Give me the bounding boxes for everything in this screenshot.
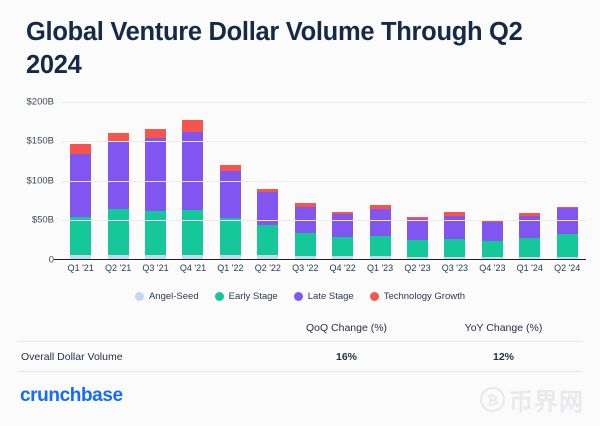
stacked-bar[interactable] xyxy=(407,217,428,259)
bar-column[interactable] xyxy=(474,100,511,259)
x-axis-label: Q1 '23 xyxy=(361,263,398,273)
bar-segment-angel xyxy=(220,255,241,259)
x-axis-labels: Q1 '21Q2 '21Q3 '21Q4 '21Q1 '22Q2 '22Q3 '… xyxy=(62,263,586,273)
bar-segment-early xyxy=(407,240,428,257)
x-axis-label: Q1 '22 xyxy=(212,263,249,273)
bar-column[interactable] xyxy=(99,100,136,259)
stacked-bar[interactable] xyxy=(257,189,278,259)
y-axis: 0$50B$100B$150B$200B xyxy=(0,100,62,260)
legend-label: Angel-Seed xyxy=(149,291,199,302)
x-axis-label: Q2 '24 xyxy=(548,263,585,273)
x-axis-label: Q2 '22 xyxy=(249,263,286,273)
stacked-bar[interactable] xyxy=(295,203,316,258)
legend-color-dot xyxy=(215,292,224,301)
bar-segment-angel xyxy=(70,255,91,258)
bar-segment-early xyxy=(182,210,203,255)
legend-label: Late Stage xyxy=(308,291,354,302)
bar-segment-late xyxy=(332,214,353,237)
bar-column[interactable] xyxy=(436,100,473,259)
bar-column[interactable] xyxy=(62,100,99,259)
footer: crunchbase ₿ 币界网 xyxy=(0,378,600,426)
bar-column[interactable] xyxy=(548,100,585,259)
bar-segment-early xyxy=(257,225,278,255)
y-axis-tick: 0 xyxy=(49,255,54,266)
y-axis-tick: $150B xyxy=(27,136,54,147)
table-row: Overall Dollar Volume 16% 12% xyxy=(18,342,582,372)
bar-segment-early xyxy=(108,209,129,255)
bar-column[interactable] xyxy=(287,100,324,259)
stacked-bar[interactable] xyxy=(557,207,578,259)
bar-segment-early xyxy=(145,211,166,255)
bar-segment-early xyxy=(332,237,353,256)
legend-label: Technology Growth xyxy=(384,291,465,302)
x-axis-label: Q1 '24 xyxy=(511,263,548,273)
table-cell-qoq: 16% xyxy=(268,351,425,363)
bar-column[interactable] xyxy=(212,100,249,259)
table-header-yoy: YoY Change (%) xyxy=(425,322,582,334)
stacked-bar[interactable] xyxy=(70,144,91,259)
bar-segment-angel xyxy=(482,257,503,259)
bar-segment-tech xyxy=(145,129,166,138)
stacked-bar[interactable] xyxy=(482,220,503,259)
table-header-row: QoQ Change (%) YoY Change (%) xyxy=(18,315,582,342)
stacked-bar[interactable] xyxy=(220,165,241,259)
bar-group xyxy=(62,100,586,259)
y-axis-tick: $100B xyxy=(27,175,54,186)
watermark: ₿ 币界网 xyxy=(480,382,584,417)
table-cell-yoy: 12% xyxy=(425,351,582,363)
table-row-label: Overall Dollar Volume xyxy=(18,351,268,363)
legend-color-dot xyxy=(370,292,379,301)
bar-column[interactable] xyxy=(137,100,174,259)
bar-column[interactable] xyxy=(249,100,286,259)
chart-legend: Angel-SeedEarly StageLate StageTechnolog… xyxy=(0,291,600,302)
gridline xyxy=(62,220,586,221)
bar-segment-late xyxy=(370,209,391,235)
bar-segment-angel xyxy=(145,255,166,259)
gridline xyxy=(62,141,586,142)
bar-segment-angel xyxy=(557,257,578,259)
summary-table: QoQ Change (%) YoY Change (%) Overall Do… xyxy=(18,315,582,372)
bar-segment-angel xyxy=(257,255,278,258)
legend-color-dot xyxy=(294,292,303,301)
bar-column[interactable] xyxy=(361,100,398,259)
bar-segment-early xyxy=(295,233,316,256)
crunchbase-logo: crunchbase xyxy=(20,385,123,407)
y-axis-tick: $200B xyxy=(27,96,54,107)
bar-segment-angel xyxy=(182,255,203,259)
y-axis-tick: $50B xyxy=(32,215,54,226)
x-axis-label: Q3 '22 xyxy=(287,263,324,273)
bar-column[interactable] xyxy=(174,100,211,259)
bar-segment-early xyxy=(557,234,578,256)
stacked-bar[interactable] xyxy=(332,212,353,259)
bar-segment-late xyxy=(70,154,91,217)
legend-item[interactable]: Late Stage xyxy=(294,291,354,302)
bar-column[interactable] xyxy=(511,100,548,259)
x-axis-label: Q4 '22 xyxy=(324,263,361,273)
plot-area xyxy=(62,100,586,260)
legend-color-dot xyxy=(135,292,144,301)
stacked-bar[interactable] xyxy=(444,212,465,258)
stacked-bar[interactable] xyxy=(145,129,166,259)
legend-item[interactable]: Technology Growth xyxy=(370,291,465,302)
bar-segment-early xyxy=(370,236,391,257)
x-axis-label: Q3 '21 xyxy=(137,263,174,273)
x-axis-line xyxy=(54,259,586,261)
table-header-qoq: QoQ Change (%) xyxy=(268,322,425,334)
coin-icon: ₿ xyxy=(480,387,505,412)
x-axis-label: Q3 '23 xyxy=(436,263,473,273)
stacked-bar[interactable] xyxy=(370,205,391,259)
watermark-label: 币界网 xyxy=(509,382,584,417)
bar-segment-angel xyxy=(519,257,540,259)
bar-segment-late xyxy=(407,219,428,240)
bar-segment-early xyxy=(519,238,540,256)
x-axis-label: Q4 '23 xyxy=(474,263,511,273)
bar-segment-early xyxy=(482,241,503,256)
chart-card: Global Venture Dollar Volume Through Q2 … xyxy=(0,0,600,426)
bar-segment-late xyxy=(108,142,129,209)
bar-segment-angel xyxy=(108,255,129,258)
legend-label: Early Stage xyxy=(229,291,278,302)
bar-segment-tech xyxy=(70,144,91,154)
x-axis-label: Q4 '21 xyxy=(174,263,211,273)
bar-column[interactable] xyxy=(399,100,436,259)
bar-segment-angel xyxy=(407,257,428,259)
x-axis-label: Q2 '23 xyxy=(399,263,436,273)
x-axis-label: Q2 '21 xyxy=(99,263,136,273)
bar-column[interactable] xyxy=(324,100,361,259)
bar-segment-early xyxy=(220,218,241,254)
bar-segment-early xyxy=(444,239,465,256)
legend-item[interactable]: Early Stage xyxy=(215,291,278,302)
gridline xyxy=(62,181,586,182)
bar-segment-angel xyxy=(370,256,391,258)
bar-segment-angel xyxy=(295,256,316,259)
bar-segment-angel xyxy=(444,257,465,259)
gridline xyxy=(62,102,586,103)
page-title: Global Venture Dollar Volume Through Q2 … xyxy=(26,16,566,81)
bar-segment-tech xyxy=(182,120,203,132)
bar-segment-late xyxy=(482,222,503,242)
bar-segment-late xyxy=(145,138,166,212)
chart-area: 0$50B$100B$150B$200B Q1 '21Q2 '21Q3 '21Q… xyxy=(0,100,600,285)
bar-segment-early xyxy=(70,217,91,255)
bar-segment-late xyxy=(220,171,241,219)
x-axis-label: Q1 '21 xyxy=(62,263,99,273)
bar-segment-angel xyxy=(332,256,353,258)
bar-segment-late xyxy=(182,132,203,210)
stacked-bar[interactable] xyxy=(108,133,129,259)
legend-item[interactable]: Angel-Seed xyxy=(135,291,199,302)
